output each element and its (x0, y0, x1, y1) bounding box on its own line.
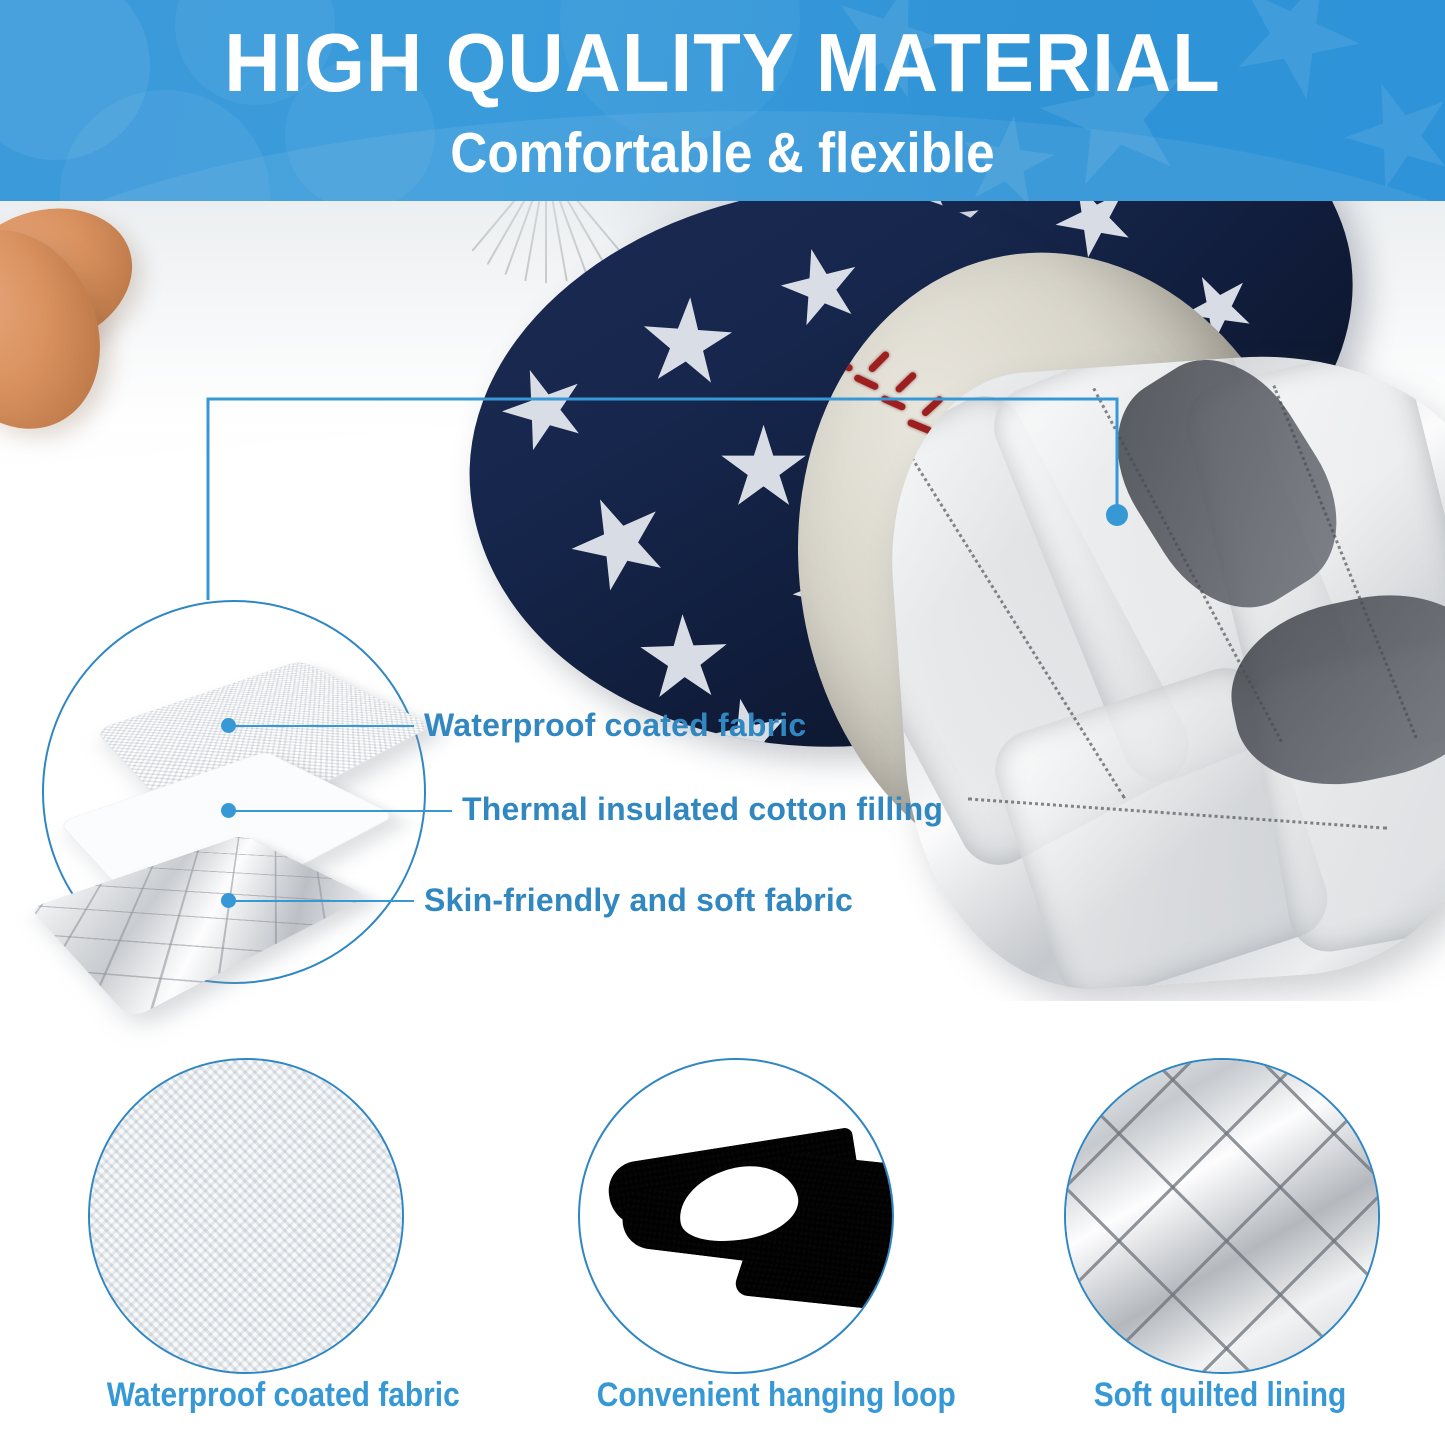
baseball-seam-stitch (841, 331, 864, 355)
feature-quilted-lining (1064, 1058, 1376, 1370)
feature-caption-quilted-lining: Soft quilted lining (1083, 1375, 1358, 1415)
quilted-silver-mitt-body (879, 341, 1445, 1001)
feature-waterproof-fabric (88, 1058, 400, 1370)
quilted-diamond-texture (1064, 1058, 1380, 1374)
header-banner: HIGH QUALITY MATERIAL Comfortable & flex… (0, 0, 1445, 201)
feature-hanging-loop (578, 1058, 890, 1370)
baseball-seam-stitch (802, 342, 828, 360)
flag-star-icon (490, 356, 598, 464)
hanging-loop-photo (580, 1060, 892, 1372)
flag-star-icon (637, 613, 730, 706)
feature-caption-waterproof: Waterproof coated fabric (107, 1375, 382, 1415)
callout-label-skin-friendly: Skin-friendly and soft fabric (424, 881, 853, 919)
baseball-seam-stitch (853, 373, 880, 390)
material-layer-diagram (42, 600, 426, 984)
layer-leader-line-2 (232, 810, 452, 812)
page-subtitle: Comfortable & flexible (72, 121, 1373, 185)
feature-photo-circle (578, 1058, 894, 1374)
layer-leader-line-3 (232, 900, 414, 902)
baseball-seam-stitch (867, 350, 890, 373)
product-infographic: HIGH QUALITY MATERIAL Comfortable & flex… (0, 0, 1445, 1429)
flag-star-icon (638, 294, 736, 392)
oven-mitt-product (470, 201, 1445, 981)
baseball-seam-stitch (817, 319, 840, 343)
feature-photo-circle (1064, 1058, 1380, 1374)
feature-caption-hanging-loop: Convenient hanging loop (597, 1375, 872, 1415)
feature-photo-circle (88, 1058, 404, 1374)
baseball-seam-stitch (880, 395, 907, 412)
woven-fabric-texture (88, 1058, 404, 1374)
flag-star-icon (556, 480, 683, 607)
callout-label-waterproof: Waterproof coated fabric (424, 706, 806, 744)
flag-star-icon (473, 244, 554, 325)
page-title: HIGH QUALITY MATERIAL (43, 18, 1401, 108)
baseball-seam-stitch (827, 355, 853, 373)
baseball-seam-stitch (894, 371, 918, 394)
layer-leader-line-1 (232, 725, 414, 727)
callout-label-thermal: Thermal insulated cotton filling (462, 790, 943, 828)
